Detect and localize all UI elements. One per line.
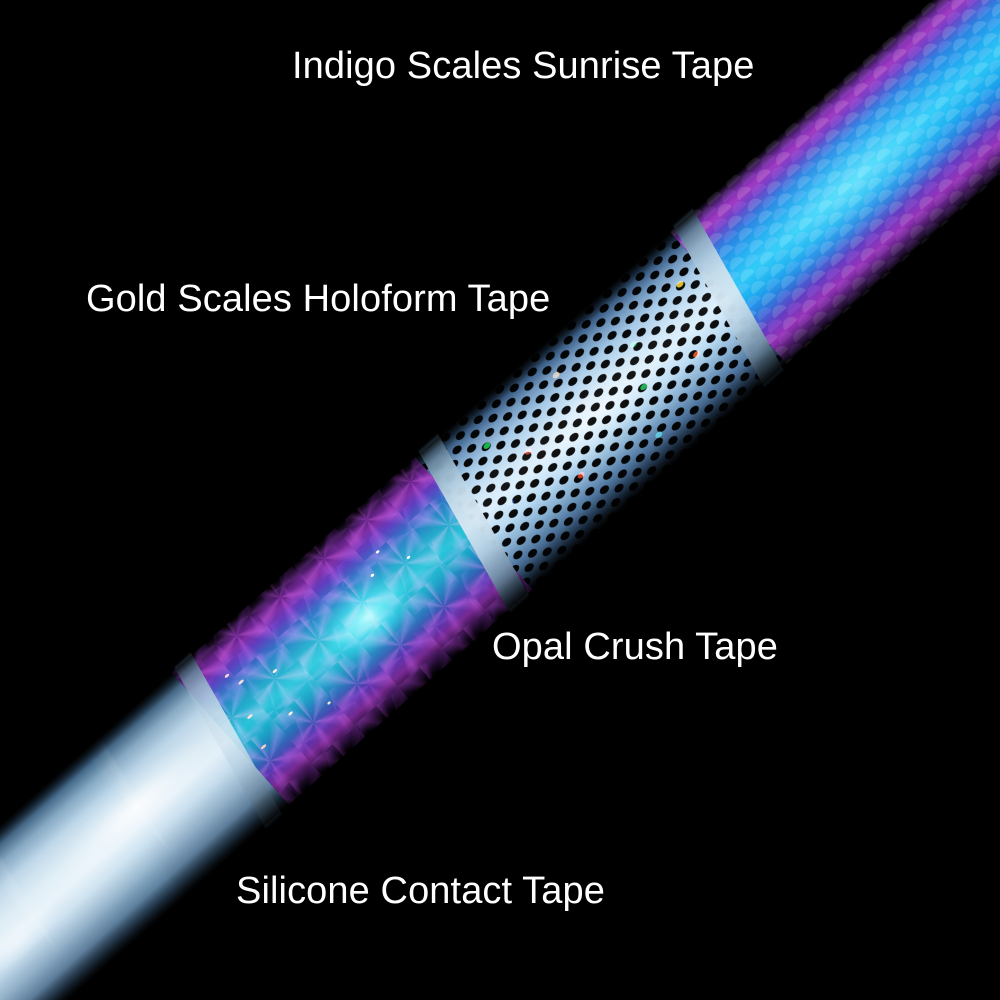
joint-band-silicone-opal bbox=[174, 651, 283, 829]
product-photo-canvas: Indigo Scales Sunrise Tape Gold Scales H… bbox=[0, 0, 1000, 1000]
silicone-ring-shading bbox=[0, 673, 289, 1000]
opal-crystalline-pattern bbox=[172, 457, 532, 804]
joint-band-holoform-indigo bbox=[672, 207, 784, 388]
joint-band-opal-holoform bbox=[418, 433, 530, 614]
label-silicone-contact-tape: Silicone Contact Tape bbox=[236, 870, 605, 913]
rod-body bbox=[0, 0, 1000, 1000]
silicone-specular-glow bbox=[0, 673, 289, 1000]
label-indigo-scales-sunrise-tape: Indigo Scales Sunrise Tape bbox=[292, 45, 754, 88]
label-opal-crush-tape: Opal Crush Tape bbox=[492, 626, 778, 669]
rod-segment-opal-crush-tape bbox=[172, 457, 532, 804]
rod-cylindrical-shading bbox=[0, 0, 1000, 1000]
opal-gold-flecks bbox=[172, 457, 532, 804]
label-gold-scales-holoform-tape: Gold Scales Holoform Tape bbox=[86, 278, 550, 321]
rod-segment-silicone-contact-tape bbox=[0, 673, 289, 1000]
opal-cyan-hotspot bbox=[172, 457, 532, 804]
rod-assembly bbox=[0, 0, 1000, 1000]
